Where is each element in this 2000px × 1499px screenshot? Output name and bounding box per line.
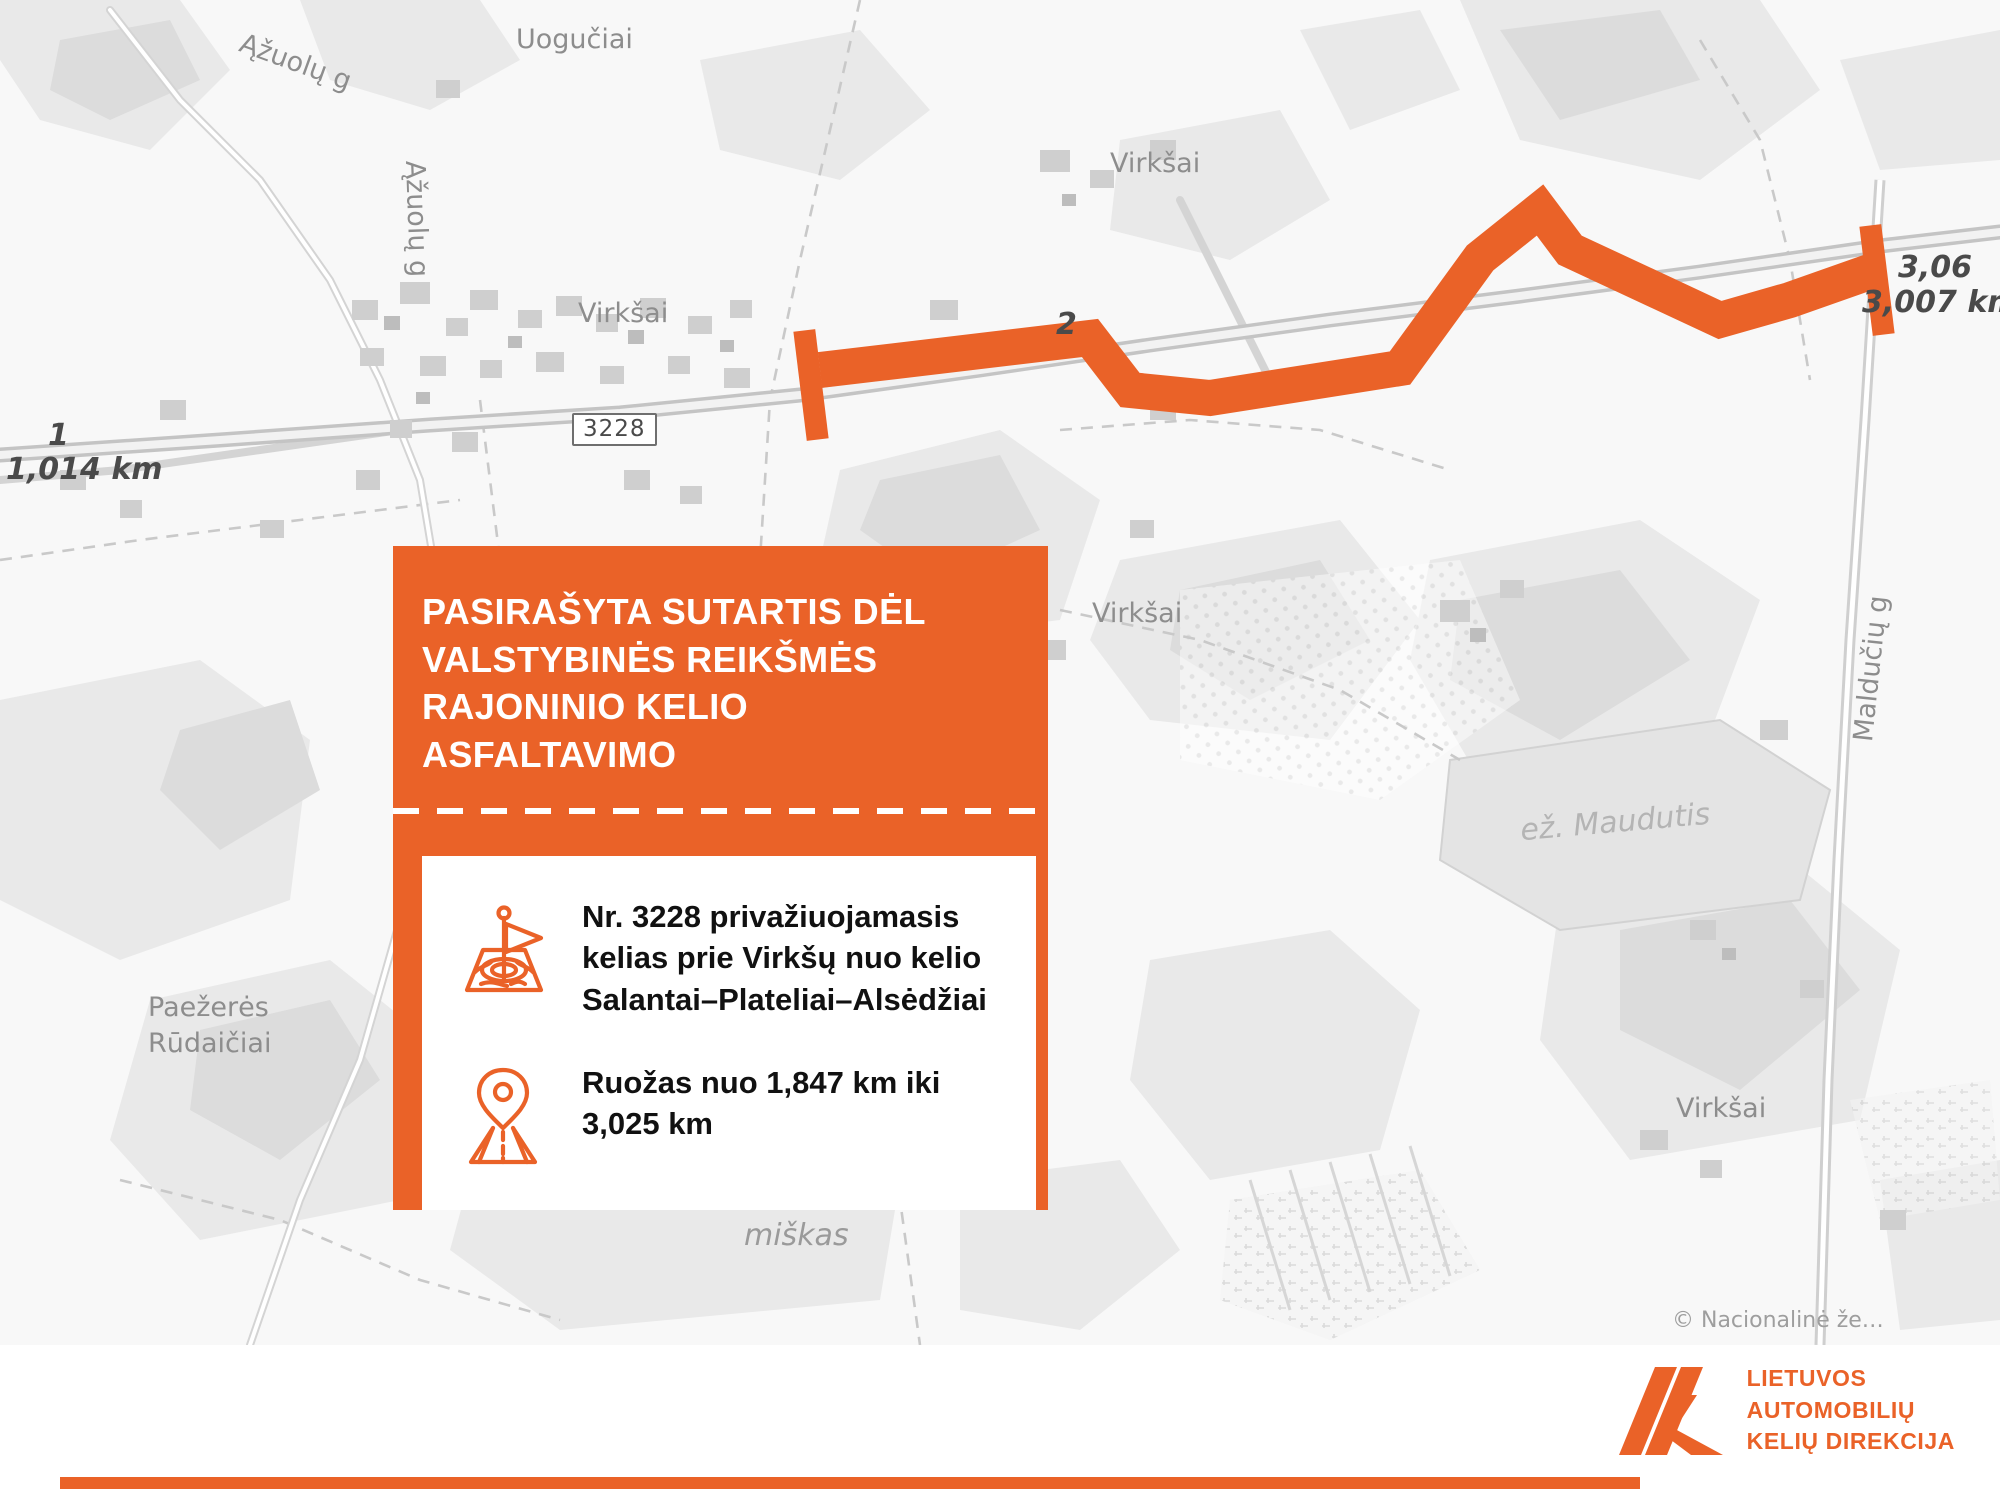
info-panel: PASIRAŠYTA SUTARTIS DĖL VALSTYBINĖS REIK… — [393, 546, 1048, 1210]
poster-root: Uogučiai Virkšai Virkšai Virkšai Virkšai… — [0, 0, 2000, 1499]
info-card-text-section: Ruožas nuo 1,847 km iki 3,025 km — [582, 1062, 1010, 1144]
marker-3-distance: 3,007 km — [1862, 285, 2000, 320]
footer: LIETUVOS AUTOMOBILIŲ KELIŲ DIREKCIJA — [0, 1345, 2000, 1499]
marker-1-number: 1 — [48, 418, 69, 453]
logo-line-1: LIETUVOS — [1747, 1363, 1955, 1395]
road-shield-3228: 3228 — [572, 413, 657, 446]
info-card: Nr. 3228 privažiuojamasis kelias prie Vi… — [422, 856, 1036, 1210]
road-pin-icon — [448, 1062, 558, 1166]
logo-line-3: KELIŲ DIREKCIJA — [1747, 1426, 1955, 1458]
marker-2-number: 2 — [1056, 307, 1077, 342]
panel-title-line-4: ASFALTAVIMO — [422, 731, 1012, 779]
marker-3-number: 3,06 — [1898, 250, 1972, 285]
panel-title-line-3: RAJONINIO KELIO — [422, 683, 1012, 731]
footer-accent-bar — [60, 1477, 1640, 1489]
logo-line-2: AUTOMOBILIŲ — [1747, 1395, 1955, 1427]
panel-title-line-2: VALSTYBINĖS REIKŠMĖS — [422, 636, 1012, 684]
lakd-logo-mark — [1615, 1367, 1727, 1455]
info-card-text-road: Nr. 3228 privažiuojamasis kelias prie Vi… — [582, 896, 1010, 1020]
map-attribution: © Nacionalinė že… — [1672, 1308, 1884, 1333]
panel-title: PASIRAŠYTA SUTARTIS DĖL VALSTYBINĖS REIK… — [393, 588, 1048, 778]
lakd-logo-text: LIETUVOS AUTOMOBILIŲ KELIŲ DIREKCIJA — [1747, 1363, 1955, 1458]
lakd-logo[interactable]: LIETUVOS AUTOMOBILIŲ KELIŲ DIREKCIJA — [1615, 1363, 1955, 1458]
panel-title-line-1: PASIRAŠYTA SUTARTIS DĖL — [422, 588, 1012, 636]
info-card-row-section: Ruožas nuo 1,847 km iki 3,025 km — [448, 1062, 1010, 1166]
map-flag-icon — [448, 896, 558, 996]
marker-1-distance: 1,014 km — [6, 452, 163, 487]
info-card-row-road: Nr. 3228 privažiuojamasis kelias prie Vi… — [448, 896, 1010, 1020]
panel-dashed-divider — [393, 808, 1048, 814]
